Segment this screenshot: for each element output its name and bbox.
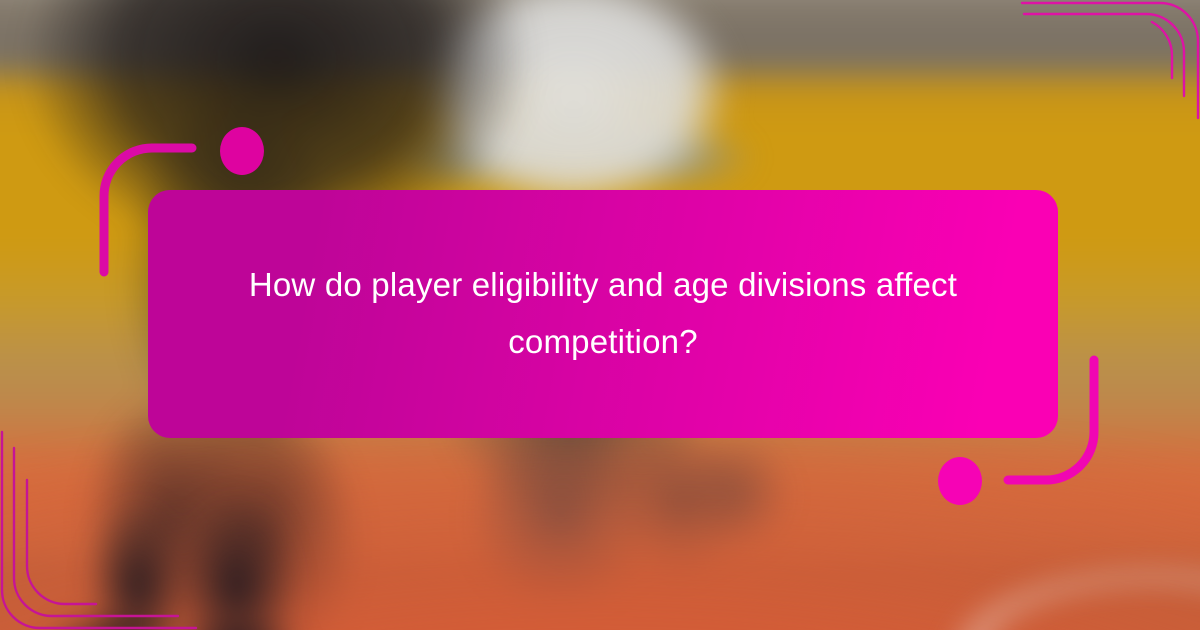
question-card: How do player eligibility and age divisi… bbox=[148, 190, 1058, 438]
question-title: How do player eligibility and age divisi… bbox=[212, 257, 994, 371]
promo-card-canvas: How do player eligibility and age divisi… bbox=[0, 0, 1200, 630]
